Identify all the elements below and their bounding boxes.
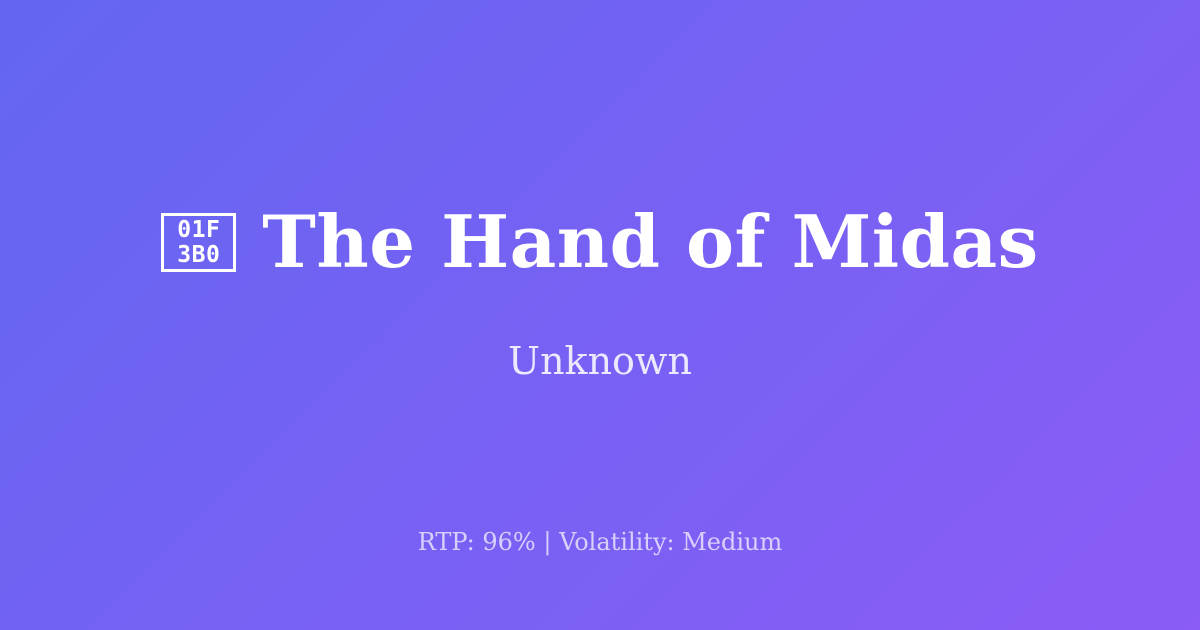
page-title: The Hand of Midas (262, 205, 1038, 278)
title-row: 01F 3B0 The Hand of Midas (161, 205, 1038, 278)
og-share-card: 01F 3B0 The Hand of Midas Unknown RTP: 9… (0, 0, 1200, 630)
tofu-hex-row-top: 01F (177, 218, 220, 243)
card-main-content: 01F 3B0 The Hand of Midas Unknown (0, 205, 1200, 382)
card-subtitle: Unknown (508, 341, 692, 383)
game-meta-line: RTP: 96% | Volatility: Medium (0, 529, 1200, 555)
tofu-hex-row-bottom: 3B0 (177, 243, 220, 268)
slot-machine-emoji-icon: 01F 3B0 (161, 213, 236, 272)
